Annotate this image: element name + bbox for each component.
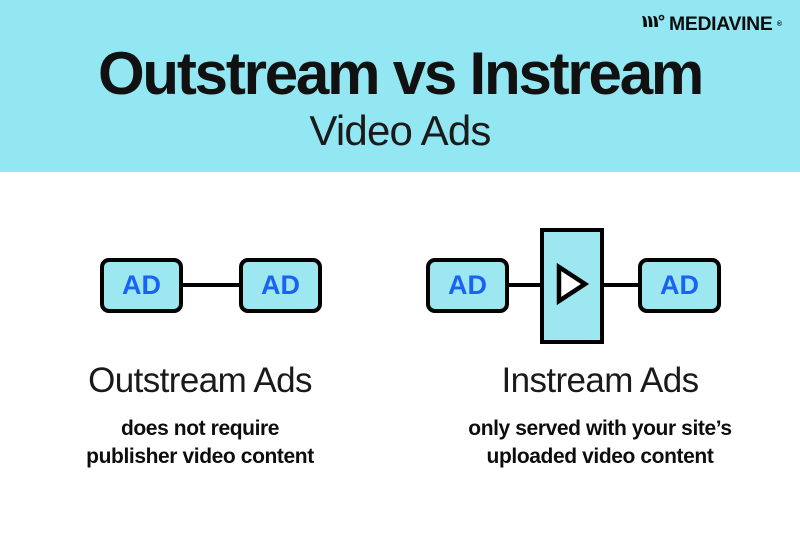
- panel-instream: AD AD Instream Ads only served with your…: [400, 172, 800, 533]
- instream-diagram: AD AD: [400, 172, 800, 372]
- outstream-description-line-1: does not require: [0, 415, 400, 443]
- ad-box-label: AD: [261, 272, 300, 299]
- ad-box-left: AD: [100, 258, 183, 313]
- play-triangle-icon: [554, 263, 590, 310]
- outstream-description-line-2: publisher video content: [0, 443, 400, 471]
- instream-description-line-1: only served with your site’s: [400, 415, 800, 443]
- brand-name: MEDIAVINE: [669, 15, 772, 34]
- ad-box-label: AD: [660, 272, 699, 299]
- ad-box-label: AD: [122, 272, 161, 299]
- connector-line-right: [601, 283, 640, 287]
- instream-description: only served with your site’s uploaded vi…: [400, 415, 800, 470]
- connector-line: [181, 283, 241, 287]
- mediavine-logo: MEDIAVINE ®: [642, 13, 782, 35]
- ad-box-right: AD: [239, 258, 322, 313]
- outstream-diagram: AD AD: [0, 172, 400, 372]
- content-area: AD AD Outstream Ads does not require pub…: [0, 172, 800, 533]
- page-title: Outstream vs Instream: [0, 42, 800, 105]
- panel-outstream: AD AD Outstream Ads does not require pub…: [0, 172, 400, 533]
- page-subtitle: Video Ads: [0, 108, 800, 154]
- mediavine-bars-icon: [642, 13, 666, 35]
- outstream-caption: Outstream Ads: [0, 362, 400, 401]
- ad-box-right: AD: [638, 258, 721, 313]
- instream-caption: Instream Ads: [400, 362, 800, 401]
- connector-line-left: [507, 283, 543, 287]
- ad-box-label: AD: [448, 272, 487, 299]
- header-band: MEDIAVINE ® Outstream vs Instream Video …: [0, 0, 800, 172]
- ad-box-left: AD: [426, 258, 509, 313]
- instream-description-line-2: uploaded video content: [400, 443, 800, 471]
- outstream-description: does not require publisher video content: [0, 415, 400, 470]
- video-player-box: [540, 228, 604, 344]
- registered-mark: ®: [777, 21, 782, 28]
